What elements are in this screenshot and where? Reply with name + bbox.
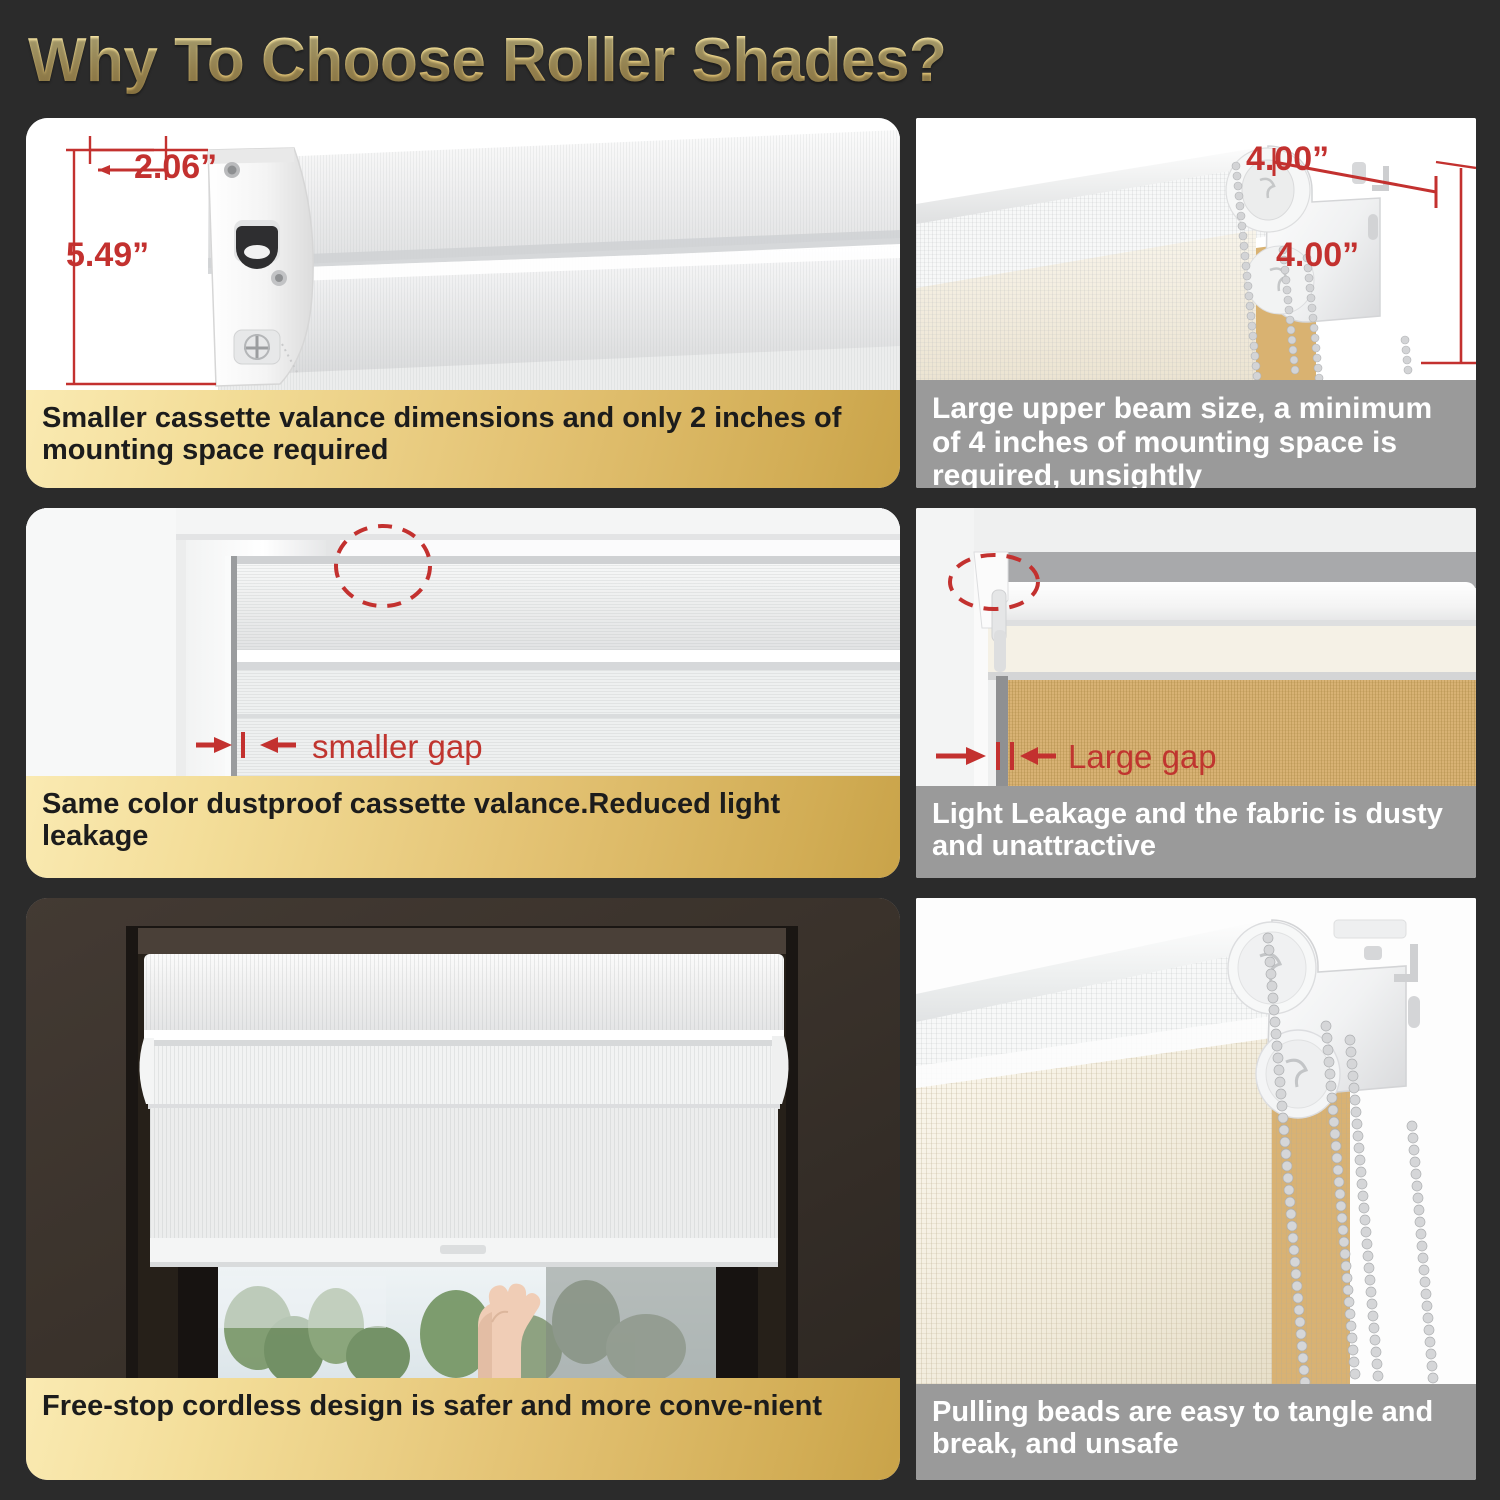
caption-top-right: Large upper beam size, a minimum of 4 in…: [916, 380, 1476, 488]
pulling-beads-photo: [916, 898, 1476, 1384]
panel-middle-left: smaller gap Same color dustproof cassett…: [26, 508, 900, 878]
panel-bottom-left: Free-stop cordless design is safer and m…: [26, 898, 900, 1480]
comparison-grid: 2.06” 5.49” Smaller cassette valance dim…: [26, 118, 1476, 1480]
infographic-page: Why To Choose Roller Shades?: [0, 0, 1500, 1500]
panel-bottom-right: Pulling beads are easy to tangle and bre…: [916, 898, 1476, 1480]
panel-top-right: 4.00” 4.00” Large upper beam size, a min…: [916, 118, 1476, 488]
panel-middle-right: Large gap Light Leakage and the fabric i…: [916, 508, 1476, 878]
page-title: Why To Choose Roller Shades?: [28, 22, 1228, 100]
dim-label-width-top-right: 4.00”: [1246, 140, 1329, 179]
light-leakage-photo: Large gap: [916, 508, 1476, 786]
dustproof-valance-photo: smaller gap: [26, 508, 900, 776]
beaded-chain-shade-illustration: [916, 898, 1476, 1384]
panel-top-left: 2.06” 5.49” Smaller cassette valance dim…: [26, 118, 900, 488]
large-beam-photo: 4.00” 4.00”: [916, 118, 1476, 380]
caption-middle-right: Light Leakage and the fabric is dusty an…: [916, 786, 1476, 878]
caption-middle-left: Same color dustproof cassette valance.Re…: [26, 776, 900, 878]
caption-bottom-left: Free-stop cordless design is safer and m…: [26, 1378, 900, 1480]
caption-top-left: Smaller cassette valance dimensions and …: [26, 390, 900, 488]
gap-callout-middle-right: Large gap: [1068, 738, 1217, 776]
cordless-window-scene-photo: [26, 898, 900, 1378]
window-room-scene-illustration: [26, 898, 900, 1378]
dim-label-height-top-left: 5.49”: [66, 236, 149, 275]
dim-label-width-top-left: 2.06”: [134, 148, 217, 187]
caption-bottom-right: Pulling beads are easy to tangle and bre…: [916, 1384, 1476, 1480]
cassette-valance-photo: 2.06” 5.49”: [26, 118, 900, 390]
dim-label-height-top-right: 4.00”: [1276, 236, 1359, 275]
large-beam-illustration: [916, 118, 1476, 380]
gap-callout-middle-left: smaller gap: [312, 728, 483, 766]
